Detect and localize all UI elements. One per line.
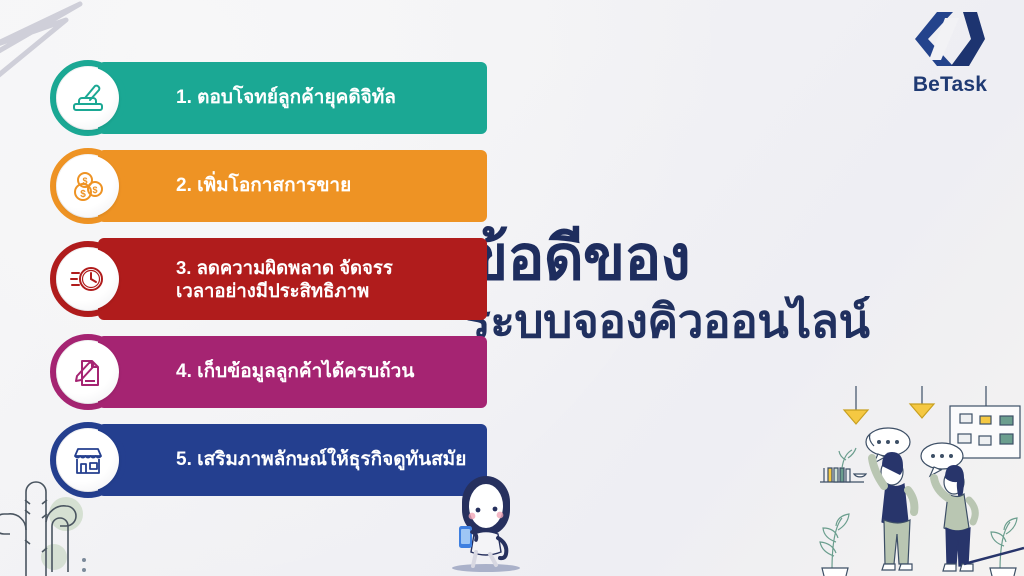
benefits-list: 1. ตอบโจทย์ลูกค้ายุคดิจิทัล 2. เพิ่มโอกา… bbox=[50, 62, 450, 512]
brand-name: BeTask bbox=[913, 73, 987, 97]
benefit-icon-circle-3 bbox=[50, 241, 126, 317]
hexagon-chevron-logo-icon bbox=[911, 8, 989, 70]
brand-logo: BeTask bbox=[892, 8, 1008, 108]
benefit-icon-circle-5 bbox=[50, 422, 126, 498]
storefront-icon bbox=[70, 442, 106, 478]
benefit-label-1: 1. ตอบโจทย์ลูกค้ายุคดิจิทัล bbox=[176, 86, 396, 110]
document-pencil-icon bbox=[70, 354, 106, 390]
benefit-bar-3: 3. ลดความผิดพลาด จัดจรรเวลาอย่างมีประสิท… bbox=[98, 238, 487, 320]
headline-line-1: ข้อดีของ bbox=[466, 228, 986, 290]
headline-line-2: ระบบจองคิวออนไลน์ bbox=[466, 296, 986, 348]
benefit-icon-circle-4 bbox=[50, 334, 126, 410]
benefit-bar-4: 4. เก็บข้อมูลลูกค้าได้ครบถ้วน bbox=[98, 336, 487, 408]
benefit-label-2: 2. เพิ่มโอกาสการขาย bbox=[176, 174, 351, 198]
fast-clock-icon bbox=[70, 261, 106, 297]
benefit-bar-1: 1. ตอบโจทย์ลูกค้ายุคดิจิทัล bbox=[98, 62, 487, 134]
benefit-row[interactable]: 1. ตอบโจทย์ลูกค้ายุคดิจิทัล bbox=[50, 62, 450, 134]
benefit-label-3: 3. ลดความผิดพลาด จัดจรรเวลาอย่างมีประสิท… bbox=[176, 256, 393, 303]
benefit-label-5: 5. เสริมภาพลักษณ์ให้ธุรกิจดูทันสมัย bbox=[176, 448, 466, 472]
svg-text:$: $ bbox=[80, 189, 86, 200]
office-people-illustration bbox=[814, 386, 1024, 576]
benefit-row[interactable]: 5. เสริมภาพลักษณ์ให้ธุรกิจดูทันสมัย bbox=[50, 424, 450, 496]
benefit-icon-circle-2: $ $ $ bbox=[50, 148, 126, 224]
page-title: ข้อดีของ ระบบจองคิวออนไลน์ bbox=[466, 228, 986, 348]
benefit-bar-5: 5. เสริมภาพลักษณ์ให้ธุรกิจดูทันสมัย bbox=[98, 424, 487, 496]
slide-canvas: BeTask ข้อดีของ ระบบจองคิวออนไลน์ 1. ตอบ… bbox=[0, 0, 1024, 576]
benefit-row[interactable]: 3. ลดความผิดพลาด จัดจรรเวลาอย่างมีประสิท… bbox=[50, 238, 450, 320]
benefit-label-4: 4. เก็บข้อมูลลูกค้าได้ครบถ้วน bbox=[176, 360, 414, 384]
stamp-icon bbox=[70, 80, 106, 116]
benefit-row[interactable]: 2. เพิ่มโอกาสการขาย $ $ $ bbox=[50, 150, 450, 222]
benefit-row[interactable]: 4. เก็บข้อมูลลูกค้าได้ครบถ้วน bbox=[50, 336, 450, 408]
robot-mascot-illustration bbox=[432, 468, 538, 576]
coins-money-icon: $ $ $ bbox=[70, 168, 106, 204]
svg-text:$: $ bbox=[82, 176, 87, 186]
benefit-icon-circle-1 bbox=[50, 60, 126, 136]
svg-text:$: $ bbox=[92, 185, 97, 195]
benefit-bar-2: 2. เพิ่มโอกาสการขาย bbox=[98, 150, 487, 222]
